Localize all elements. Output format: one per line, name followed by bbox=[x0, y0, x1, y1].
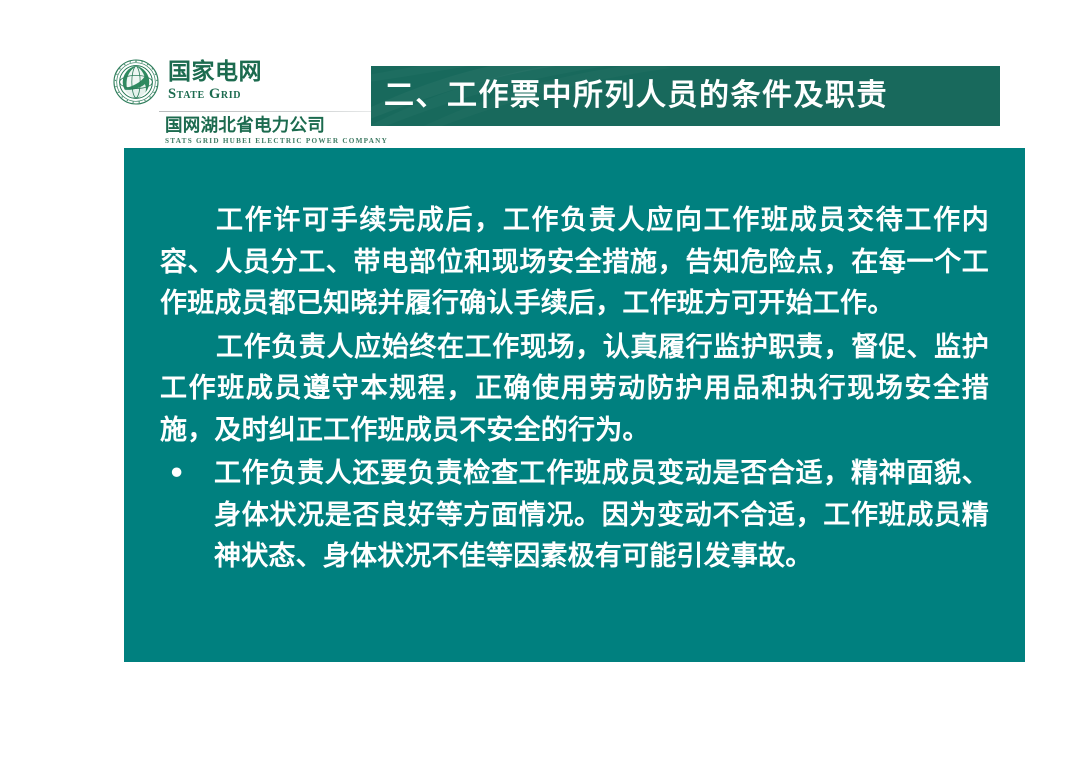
state-grid-globe-emblem-icon bbox=[113, 59, 159, 105]
paragraph-3: • 工作负责人还要负责检查工作班成员变动是否合适，精神面貌、身体状况是否良好等方… bbox=[160, 453, 989, 578]
paragraph-3-text: 工作负责人还要负责检查工作班成员变动是否合适，精神面貌、身体状况是否良好等方面情… bbox=[214, 458, 989, 572]
logo-company-en: STATS GRID HUBEI ELECTRIC POWER COMPANY bbox=[165, 137, 465, 146]
page-title: 二、工作票中所列人员的条件及职责 bbox=[371, 66, 1000, 126]
slide-header-bar: 二、工作票中所列人员的条件及职责 bbox=[371, 66, 1000, 126]
logo-brand-en: State Grid bbox=[168, 86, 262, 103]
logo-wordmark: 国家电网 State Grid bbox=[168, 60, 262, 103]
brand-logo: 国家电网 State Grid 国网湖北省电力公司 STATS GRID HUB… bbox=[113, 58, 375, 140]
logo-divider-line bbox=[159, 111, 374, 112]
content-panel: 工作许可手续完成后，工作负责人应向工作班成员交待工作内容、人员分工、带电部位和现… bbox=[124, 148, 1025, 662]
bullet-icon: • bbox=[168, 453, 208, 495]
logo-brand-cn: 国家电网 bbox=[168, 60, 262, 85]
paragraph-1: 工作许可手续完成后，工作负责人应向工作班成员交待工作内容、人员分工、带电部位和现… bbox=[160, 200, 989, 325]
logo-primary-row: 国家电网 State Grid bbox=[113, 58, 375, 106]
slide-canvas: 国家电网 State Grid 国网湖北省电力公司 STATS GRID HUB… bbox=[0, 0, 1080, 763]
paragraph-2: 工作负责人应始终在工作现场，认真履行监护职责，督促、监护工作班成员遵守本规程，正… bbox=[160, 327, 989, 452]
